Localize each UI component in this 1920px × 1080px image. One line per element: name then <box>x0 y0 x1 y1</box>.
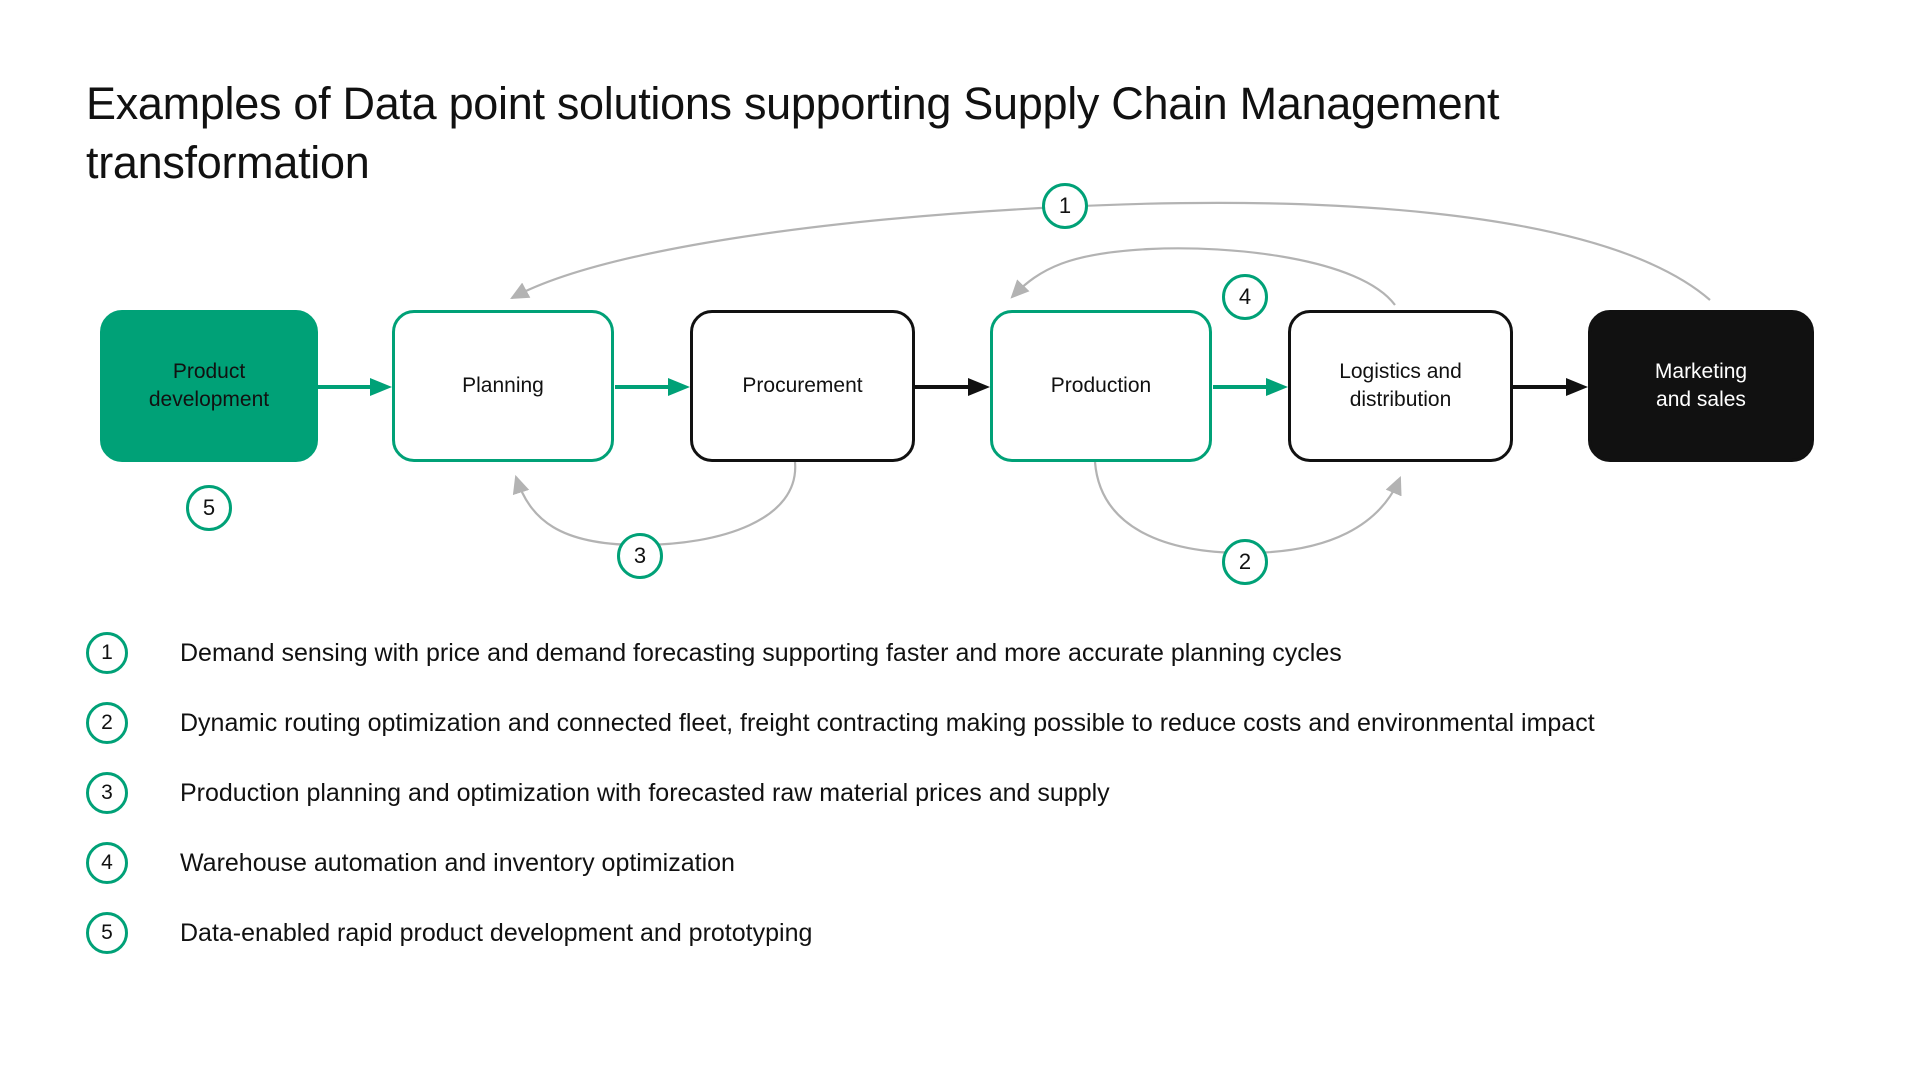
flow-node-label-line1: Marketing <box>1655 360 1747 383</box>
feedback-arc-4 <box>1012 248 1395 305</box>
feedback-arc-3 <box>516 462 795 545</box>
flow-node-label: Planning <box>462 372 544 400</box>
legend-badge: 4 <box>86 842 128 884</box>
flow-node-logistics-and-distribution[interactable]: Logistics and distribution <box>1288 310 1513 462</box>
legend-text: Warehouse automation and inventory optim… <box>180 848 735 878</box>
diagram-badge-4[interactable]: 4 <box>1222 274 1268 320</box>
flow-node-label-line2: development <box>149 388 269 411</box>
flow-node-product-development[interactable]: Product development <box>100 310 318 462</box>
legend-item[interactable]: 2 Dynamic routing optimization and conne… <box>86 688 1876 758</box>
flow-node-label: Procurement <box>742 372 862 400</box>
legend-badge: 2 <box>86 702 128 744</box>
flow-node-procurement[interactable]: Procurement <box>690 310 915 462</box>
flow-node-label-line1: Product <box>173 360 245 383</box>
diagram-badge-5[interactable]: 5 <box>186 485 232 531</box>
feedback-arc-1 <box>512 203 1710 300</box>
diagram-badge-label: 5 <box>203 495 215 521</box>
page-title: Examples of Data point solutions support… <box>86 74 1766 192</box>
legend-item[interactable]: 4 Warehouse automation and inventory opt… <box>86 828 1876 898</box>
flow-node-label: Marketing and sales <box>1655 358 1747 414</box>
flow-node-production[interactable]: Production <box>990 310 1212 462</box>
legend-badge-label: 5 <box>101 921 113 945</box>
flow-node-planning[interactable]: Planning <box>392 310 614 462</box>
diagram-badge-label: 1 <box>1059 193 1071 219</box>
legend-text: Demand sensing with price and demand for… <box>180 638 1342 668</box>
legend-text: Production planning and optimization wit… <box>180 778 1110 808</box>
legend-text: Data-enabled rapid product development a… <box>180 918 812 948</box>
legend-item[interactable]: 5 Data-enabled rapid product development… <box>86 898 1876 968</box>
diagram-badge-3[interactable]: 3 <box>617 533 663 579</box>
diagram-badge-label: 3 <box>634 543 646 569</box>
diagram-badge-2[interactable]: 2 <box>1222 539 1268 585</box>
legend-list: 1 Demand sensing with price and demand f… <box>86 618 1876 968</box>
connector-product-development-to-planning <box>317 378 392 396</box>
legend-badge: 1 <box>86 632 128 674</box>
connector-production-to-logistics <box>1213 378 1288 396</box>
legend-badge-label: 4 <box>101 851 113 875</box>
connector-procurement-to-production <box>915 378 990 396</box>
connector-logistics-to-marketing <box>1513 378 1588 396</box>
flow-node-label-line2: and sales <box>1656 388 1746 411</box>
legend-item[interactable]: 1 Demand sensing with price and demand f… <box>86 618 1876 688</box>
flow-node-marketing-and-sales[interactable]: Marketing and sales <box>1588 310 1814 462</box>
diagram-badge-1[interactable]: 1 <box>1042 183 1088 229</box>
legend-badge-label: 1 <box>101 641 113 665</box>
legend-badge-label: 2 <box>101 711 113 735</box>
legend-badge: 3 <box>86 772 128 814</box>
legend-badge-label: 3 <box>101 781 113 805</box>
diagram-badge-label: 2 <box>1239 549 1251 575</box>
diagram-badge-label: 4 <box>1239 284 1251 310</box>
legend-badge: 5 <box>86 912 128 954</box>
flow-node-label: Logistics and distribution <box>1339 358 1462 414</box>
flow-node-label-line1: Logistics and <box>1339 360 1462 383</box>
legend-item[interactable]: 3 Production planning and optimization w… <box>86 758 1876 828</box>
flow-node-label: Product development <box>149 358 269 414</box>
flow-node-label-line2: distribution <box>1350 388 1452 411</box>
connector-planning-to-procurement <box>615 378 690 396</box>
legend-text: Dynamic routing optimization and connect… <box>180 708 1595 738</box>
flow-node-label: Production <box>1051 372 1151 400</box>
